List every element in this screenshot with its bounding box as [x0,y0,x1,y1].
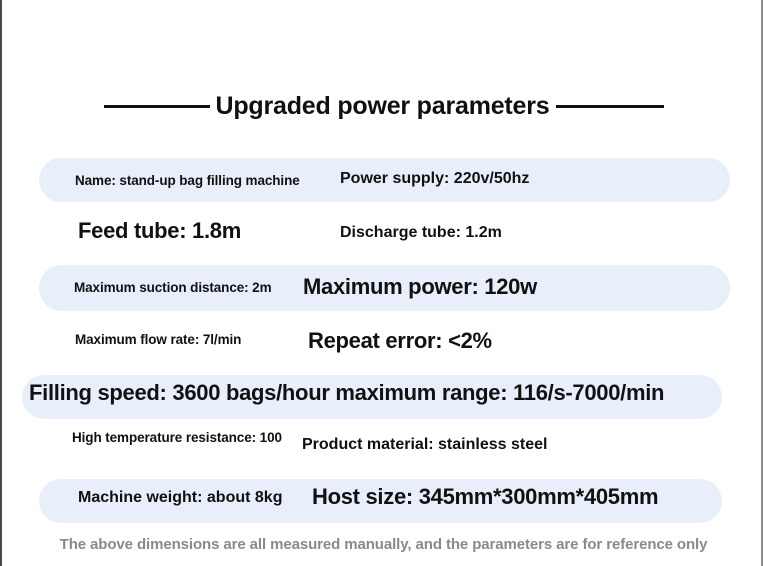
title-rule-left-icon [104,105,210,108]
spec-name-value: Name: stand-up bag filling machine [75,173,300,189]
spec-high-temperature-resistance-value: High temperature resistance: 100 [72,430,302,446]
spec-max-suction-distance-value: Maximum suction distance: 2m [74,280,272,296]
spec-filling-speed-value: Filling speed: 3600 bags/hour maximum ra… [29,380,664,405]
spec-host-size-value: Host size: 345mm*300mm*405mm [312,484,658,509]
spec-sheet-page: Upgraded power parameters Name: stand-up… [0,0,763,566]
spec-machine-weight-value: Machine weight: about 8kg [78,489,282,507]
spec-power-supply-value: Power supply: 220v/50hz [340,170,529,188]
spec-feed-tube-value: Feed tube: 1.8m [78,218,241,243]
spec-max-flow-rate-value: Maximum flow rate: 7l/min [75,332,241,348]
title-rule-right-icon [556,105,664,108]
spec-product-material-value: Product material: stainless steel [302,436,547,454]
page-title-row: Upgraded power parameters [2,86,763,126]
spec-repeat-error-value: Repeat error: <2% [308,328,492,353]
footer-disclaimer: The above dimensions are all measured ma… [2,536,763,553]
page-title: Upgraded power parameters [216,94,550,119]
spec-discharge-tube-value: Discharge tube: 1.2m [340,224,502,242]
spec-maximum-power-value: Maximum power: 120w [303,274,537,299]
